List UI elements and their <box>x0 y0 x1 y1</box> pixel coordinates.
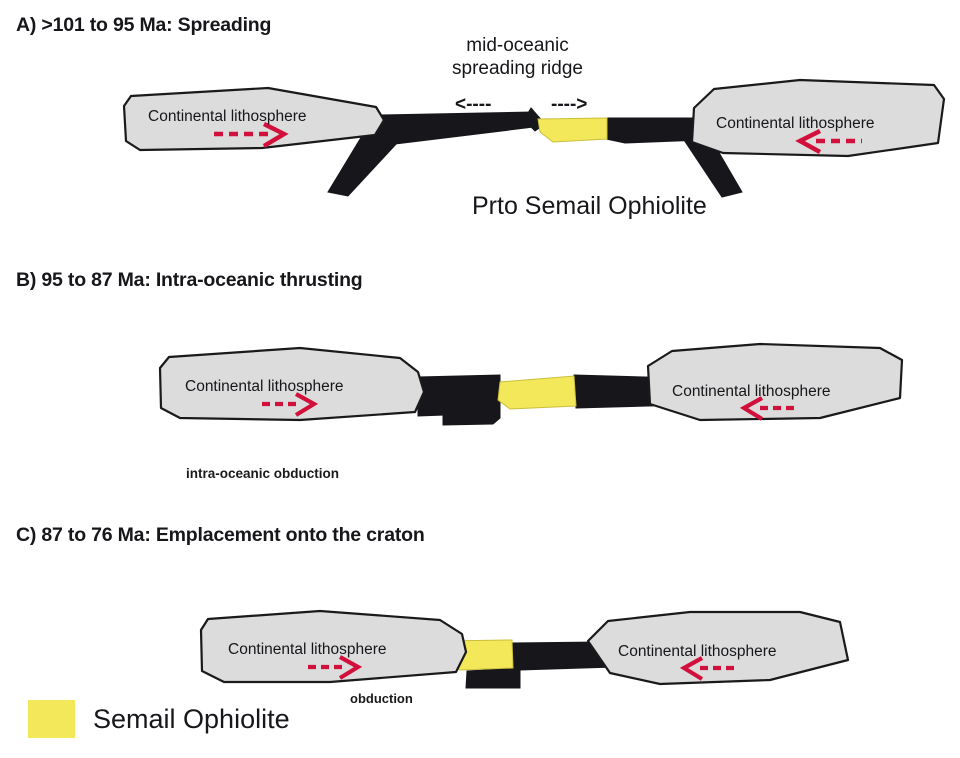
legend: Semail Ophiolite <box>28 700 290 738</box>
panel-c-footwall-wedge <box>466 668 520 688</box>
panel-b-left-continental-block <box>160 348 424 420</box>
panel-a-ophiolite-wedge <box>538 118 607 142</box>
obduction-label: obduction <box>350 691 413 706</box>
panel-a-right-continental-block <box>692 80 944 156</box>
panel-c-heading: C) 87 to 76 Ma: Emplacement onto the cra… <box>16 524 425 547</box>
ridge-label-line-1: mid-oceanic <box>452 34 583 57</box>
legend-swatch-semail-ophiolite <box>28 700 75 738</box>
ridge-spreading-arrow-left: <---- <box>455 94 491 116</box>
panel-b-heading: B) 95 to 87 Ma: Intra-oceanic thrusting <box>16 269 363 292</box>
proto-semail-ophiolite-label: Prto Semail Ophiolite <box>472 192 707 221</box>
figure-canvas: A) >101 to 95 Ma: Spreading B) 95 to 87 … <box>0 0 960 758</box>
panel-c-left-continental-block <box>201 611 466 682</box>
panel-a-heading: A) >101 to 95 Ma: Spreading <box>16 14 271 37</box>
spreading-ridge-label: mid-oceanic spreading ridge <box>452 34 583 80</box>
panel-a-left-continental-block <box>124 88 384 150</box>
legend-label-semail-ophiolite: Semail Ophiolite <box>93 704 290 735</box>
panel-c-right-continental-block <box>588 612 848 684</box>
panel-b-ophiolite-sheet <box>498 376 576 409</box>
ridge-spreading-arrow-right: ----> <box>551 94 587 116</box>
intra-oceanic-obduction-label: intra-oceanic obduction <box>186 466 339 481</box>
panel-b-graphics <box>160 344 902 425</box>
panel-a-graphics <box>124 80 944 197</box>
panel-c-graphics <box>201 611 848 688</box>
ridge-label-line-2: spreading ridge <box>452 57 583 80</box>
